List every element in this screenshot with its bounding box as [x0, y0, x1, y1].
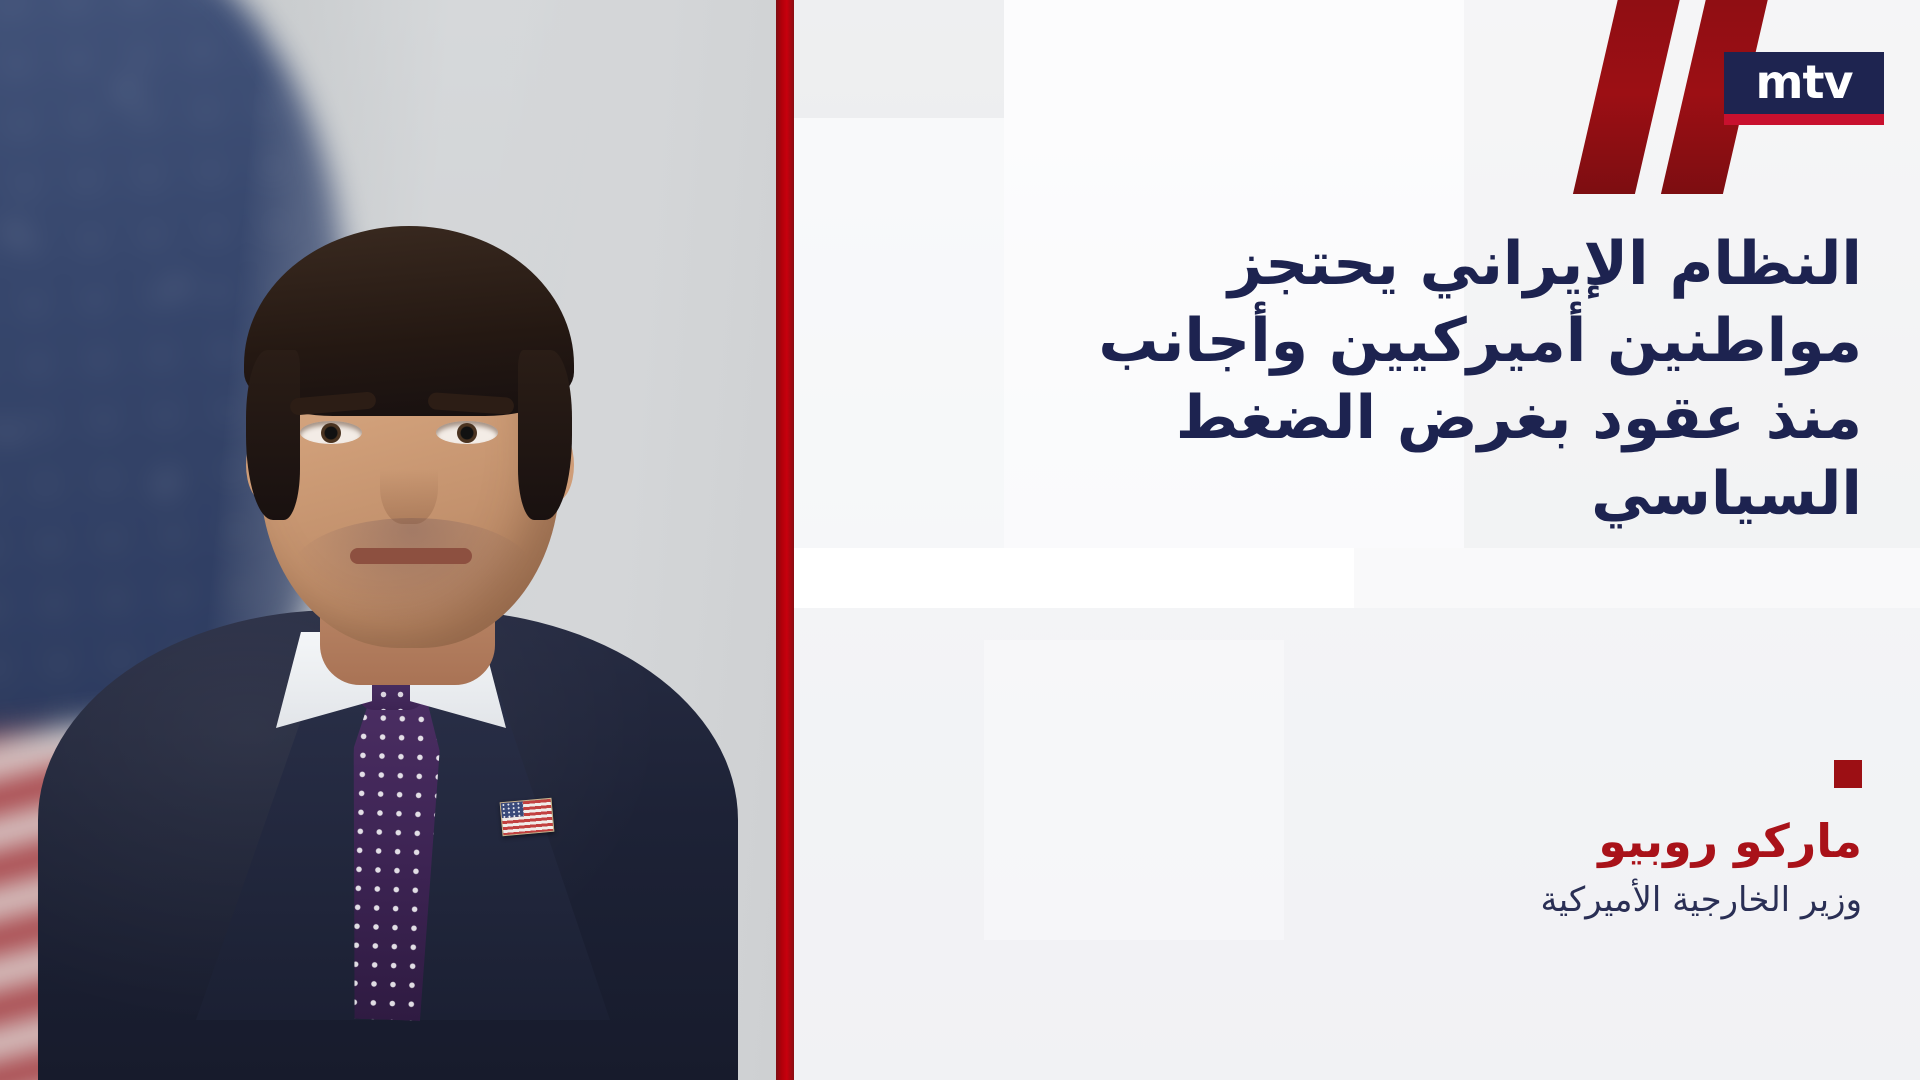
- logo-badge: mtv: [1724, 52, 1884, 114]
- eye-left: [300, 421, 362, 444]
- headline: النظام الإيراني يحتجز مواطنين أميركيين و…: [962, 226, 1862, 533]
- speaker-name: ماركو روبيو: [962, 814, 1862, 868]
- mtv-logo: mtv: [1534, 0, 1894, 200]
- jaw-shadow: [290, 518, 534, 628]
- attribution-block: ماركو روبيو وزير الخارجية الأميركية: [962, 760, 1862, 921]
- background-block: [794, 548, 1354, 608]
- hair-side-left: [246, 350, 300, 520]
- speaker-title: وزير الخارجية الأميركية: [962, 880, 1862, 921]
- speaker-figure: [28, 70, 748, 1080]
- speaker-photo-panel: [0, 0, 776, 1080]
- background-block: [1354, 548, 1920, 608]
- logo-wordmark: mtv: [1756, 59, 1853, 105]
- iris-right: [457, 423, 477, 443]
- hair-side-right: [518, 350, 572, 520]
- background-block: [794, 0, 1004, 118]
- headline-line-2: مواطنين أميركيين وأجانب: [962, 303, 1862, 380]
- eye-right: [436, 421, 498, 444]
- logo-slash-icon: [1573, 0, 1681, 194]
- red-square-marker-icon: [1834, 760, 1862, 788]
- iris-left: [321, 423, 341, 443]
- logo-underbar: [1724, 114, 1884, 125]
- vertical-divider: [776, 0, 794, 1080]
- us-flag-lapel-pin-icon: [500, 798, 555, 836]
- headline-line-1: النظام الإيراني يحتجز: [962, 226, 1862, 303]
- headline-line-4: السياسي: [962, 456, 1862, 533]
- mouth: [350, 548, 472, 564]
- nose: [380, 432, 438, 524]
- broadcast-graphic: mtv النظام الإيراني يحتجز مواطنين أميركي…: [0, 0, 1920, 1080]
- headline-line-3: منذ عقود بغرض الضغط: [962, 380, 1862, 457]
- content-panel: mtv النظام الإيراني يحتجز مواطنين أميركي…: [794, 0, 1920, 1080]
